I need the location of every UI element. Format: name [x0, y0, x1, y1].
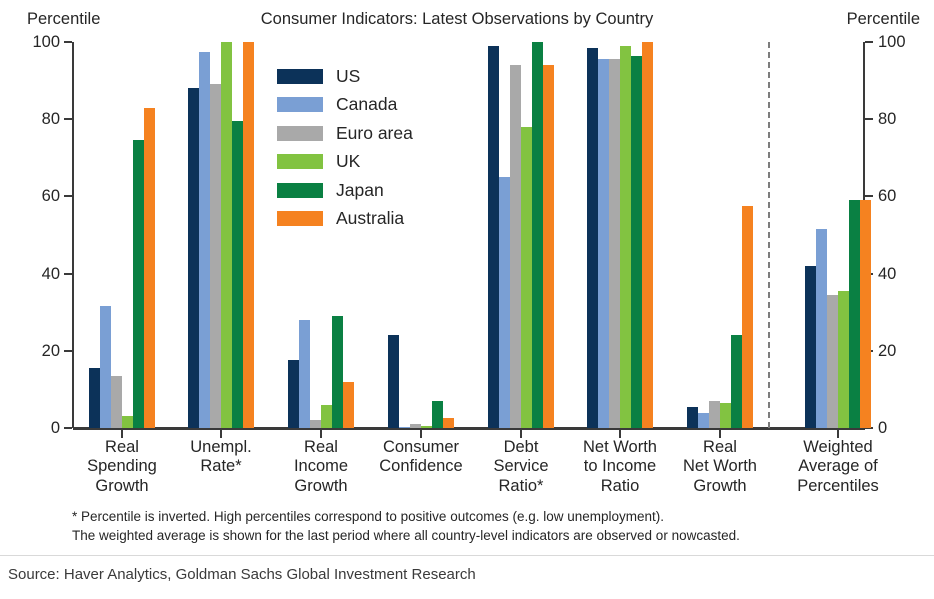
- bar-uk: [321, 405, 332, 428]
- legend-item[interactable]: Euro area: [277, 119, 457, 148]
- bar-australia: [343, 382, 354, 428]
- bar-group: [188, 42, 254, 428]
- bar-group: [587, 42, 653, 428]
- y-tick-label-left: 80: [0, 111, 60, 128]
- footnote-line-2: The weighted average is shown for the la…: [72, 526, 740, 545]
- bar-uk: [620, 46, 631, 428]
- bar-japan: [849, 200, 860, 428]
- chart-legend: USCanadaEuro areaUKJapanAustralia: [277, 62, 457, 233]
- y-tick-label-left: 100: [0, 34, 60, 51]
- bar-canada: [499, 177, 510, 428]
- bar-us: [687, 407, 698, 428]
- x-tick: [220, 430, 222, 438]
- bar-japan: [432, 401, 443, 428]
- y-tick-label-right: 40: [878, 266, 934, 283]
- group-divider-line: [768, 42, 770, 428]
- bar-japan: [232, 121, 243, 428]
- y-tick-label-right: 80: [878, 111, 934, 128]
- y-tick-label-right: 0: [878, 420, 934, 437]
- y-tick-left: [64, 273, 72, 275]
- bar-us: [288, 360, 299, 428]
- source-text: Source: Haver Analytics, Goldman Sachs G…: [8, 566, 476, 583]
- bar-euro-area: [827, 295, 838, 428]
- legend-item[interactable]: US: [277, 62, 457, 91]
- legend-item[interactable]: Canada: [277, 91, 457, 120]
- bar-japan: [631, 56, 642, 428]
- legend-label: UK: [336, 151, 360, 172]
- legend-swatch-icon: [277, 154, 323, 169]
- bar-group: [488, 42, 554, 428]
- bar-japan: [332, 316, 343, 428]
- bar-canada: [698, 413, 709, 428]
- bar-australia: [642, 42, 653, 428]
- bar-australia: [243, 42, 254, 428]
- bar-euro-area: [609, 59, 620, 428]
- bar-canada: [399, 427, 410, 428]
- legend-label: US: [336, 66, 360, 87]
- source-divider: [0, 555, 934, 556]
- bar-canada: [598, 59, 609, 428]
- x-axis-label: Weighted Average of Percentiles: [768, 438, 908, 496]
- chart-figure: Percentile Consumer Indicators: Latest O…: [0, 0, 934, 599]
- legend-swatch-icon: [277, 126, 323, 141]
- footnote-line-1: * Percentile is inverted. High percentil…: [72, 507, 740, 526]
- bar-uk: [421, 426, 432, 428]
- bar-us: [488, 46, 499, 428]
- y-tick-label-left: 40: [0, 266, 60, 283]
- y-tick-label-left: 0: [0, 420, 60, 437]
- bar-group: [89, 42, 155, 428]
- bar-us: [805, 266, 816, 428]
- legend-swatch-icon: [277, 69, 323, 84]
- bar-australia: [443, 418, 454, 428]
- y-tick-left: [64, 427, 72, 429]
- y-tick-left: [64, 350, 72, 352]
- bar-group: [687, 42, 753, 428]
- bar-euro-area: [410, 424, 421, 428]
- bar-euro-area: [709, 401, 720, 428]
- x-tick: [837, 430, 839, 438]
- y-tick-label-left: 60: [0, 188, 60, 205]
- bar-uk: [521, 127, 532, 428]
- x-tick: [520, 430, 522, 438]
- bar-uk: [838, 291, 849, 428]
- legend-item[interactable]: UK: [277, 148, 457, 177]
- bar-euro-area: [210, 84, 221, 428]
- bar-australia: [543, 65, 554, 428]
- y-tick-label-left: 20: [0, 343, 60, 360]
- bar-uk: [720, 403, 731, 428]
- legend-swatch-icon: [277, 97, 323, 112]
- bar-australia: [742, 206, 753, 428]
- x-tick: [121, 430, 123, 438]
- legend-label: Australia: [336, 208, 404, 229]
- bar-us: [388, 335, 399, 428]
- legend-swatch-icon: [277, 183, 323, 198]
- bar-us: [587, 48, 598, 428]
- bar-uk: [221, 42, 232, 428]
- legend-swatch-icon: [277, 211, 323, 226]
- legend-label: Euro area: [336, 123, 413, 144]
- bar-euro-area: [310, 420, 321, 428]
- y-tick-label-right: 20: [878, 343, 934, 360]
- x-tick: [320, 430, 322, 438]
- y-axis-left-labels: 020406080100: [0, 0, 60, 599]
- legend-item[interactable]: Australia: [277, 205, 457, 234]
- bar-australia: [860, 200, 871, 428]
- bar-us: [188, 88, 199, 428]
- bar-japan: [133, 140, 144, 428]
- bar-canada: [816, 229, 827, 428]
- y-axis-right-labels: 020406080100: [878, 0, 934, 599]
- y-tick-left: [64, 41, 72, 43]
- x-tick: [420, 430, 422, 438]
- y-tick-label-right: 60: [878, 188, 934, 205]
- bar-canada: [299, 320, 310, 428]
- bar-uk: [122, 416, 133, 428]
- chart-title: Consumer Indicators: Latest Observations…: [0, 10, 934, 29]
- bar-canada: [199, 52, 210, 428]
- bar-group: [805, 42, 871, 428]
- plot-area: [73, 42, 863, 428]
- legend-item[interactable]: Japan: [277, 176, 457, 205]
- bar-japan: [532, 42, 543, 428]
- y-tick-left: [64, 195, 72, 197]
- y-tick-left: [64, 118, 72, 120]
- legend-label: Japan: [336, 180, 384, 201]
- bar-canada: [100, 306, 111, 428]
- bar-australia: [144, 108, 155, 428]
- x-tick: [719, 430, 721, 438]
- bar-us: [89, 368, 100, 428]
- footnotes: * Percentile is inverted. High percentil…: [72, 507, 740, 545]
- y-tick-label-right: 100: [878, 34, 934, 51]
- bar-japan: [731, 335, 742, 428]
- legend-label: Canada: [336, 94, 397, 115]
- bar-euro-area: [111, 376, 122, 428]
- bar-euro-area: [510, 65, 521, 428]
- x-tick: [619, 430, 621, 438]
